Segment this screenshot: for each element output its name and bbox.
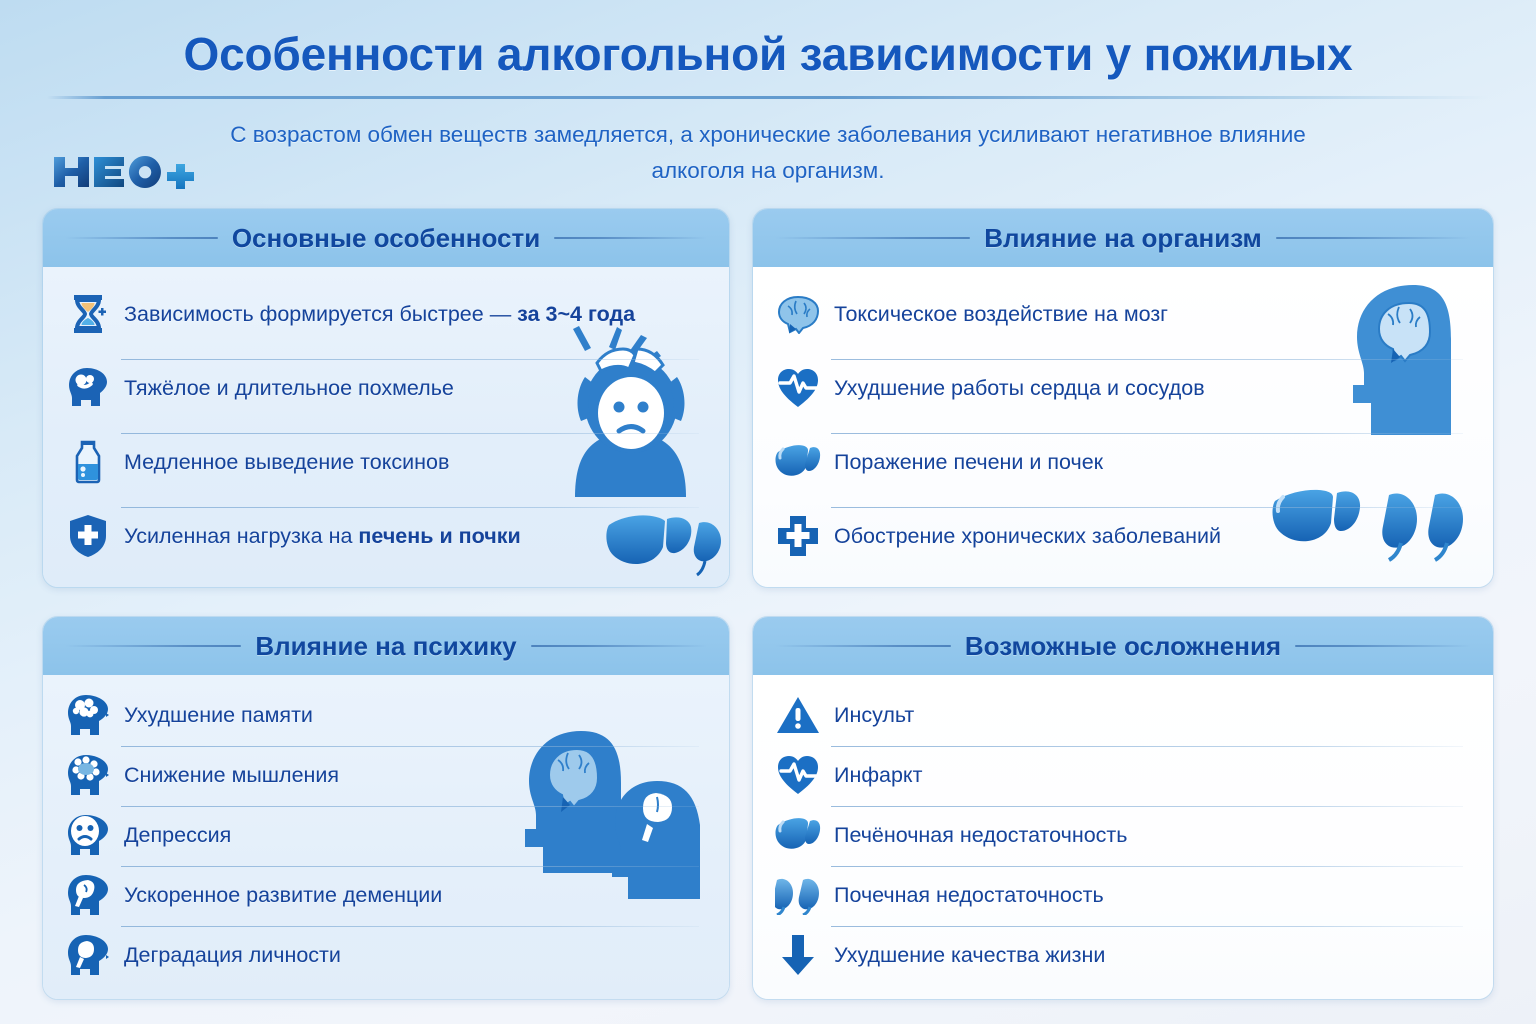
liver-icon (775, 439, 821, 485)
header-rule-right (1276, 237, 1471, 239)
list-item-label: Ускоренное развитие деменции (124, 883, 442, 908)
list-item-label: Ухудшение работы сердца и сосудов (834, 376, 1205, 401)
list-item-text: Деградация личности (124, 943, 341, 967)
list-item-label: Усиленная нагрузка на печень и почки (124, 524, 521, 549)
list-item-text: Ухудшение качества жизни (834, 943, 1105, 967)
card-title: Основные особенности (232, 223, 540, 254)
list-item-label: Ухудшение памяти (124, 703, 313, 728)
list-item[interactable]: Депрессия (65, 807, 707, 863)
card-body: Инсульт Инфаркт (753, 675, 1493, 999)
page-header: Особенности алкогольной зависимости у по… (0, 0, 1536, 200)
list-item[interactable]: Тяжёлое и длительное похмелье (65, 360, 707, 416)
list-item[interactable]: Медленное выведение токсинов (65, 434, 707, 490)
list-item[interactable]: Поражение печени и почек (775, 434, 1471, 490)
list-item-label: Инсульт (834, 703, 914, 728)
list-item-label: Почечная недостаточность (834, 883, 1104, 908)
list-item-text: Зависимость формируется быстрее — (124, 302, 517, 326)
page-subtitle: С возрастом обмен веществ замедляется, а… (218, 117, 1318, 189)
list-item[interactable]: Ухудшение качества жизни (775, 927, 1471, 983)
list-item[interactable]: Инфаркт (775, 747, 1471, 803)
list-item-text: Тяжёлое и длительное похмелье (124, 376, 454, 400)
list-item-label: Печёночная недостаточность (834, 823, 1127, 848)
list-item[interactable]: Деградация личности (65, 927, 707, 983)
card-title: Влияние на организм (984, 223, 1261, 254)
list-item-text: Инсульт (834, 703, 914, 727)
list-item-text: Снижение мышления (124, 763, 339, 787)
list-item[interactable]: Усиленная нагрузка на печень и почки (65, 508, 707, 564)
header-rule-left (775, 237, 970, 239)
head-dementia-icon (65, 872, 111, 918)
list-item[interactable]: Почечная недостаточность (775, 867, 1471, 923)
header-rule-left (775, 645, 951, 647)
card-body: Зависимость формируется быстрее — за 3~4… (43, 267, 729, 587)
list-item-label: Инфаркт (834, 763, 922, 788)
list-item-emphasis: печень и почки (358, 524, 520, 548)
list-item-text: Ухудшение работы сердца и сосудов (834, 376, 1205, 400)
list-item[interactable]: Зависимость формируется быстрее — за 3~4… (65, 286, 707, 342)
list-item-label: Тяжёлое и длительное похмелье (124, 376, 454, 401)
list-item-text: Депрессия (124, 823, 231, 847)
card-main-features: Основные особенности Зависимость формиру… (42, 208, 730, 588)
list-item-text: Почечная недостаточность (834, 883, 1104, 907)
list-item-label: Снижение мышления (124, 763, 339, 788)
header-rule-right (531, 645, 707, 647)
list-item-text: Обострение хронических заболеваний (834, 524, 1221, 548)
list-item-text: Ухудшение памяти (124, 703, 313, 727)
head-degradation-icon (65, 932, 111, 978)
head-sad-face-icon (65, 812, 111, 858)
header-rule-right (554, 237, 707, 239)
list-item-text: Поражение печени и почек (834, 450, 1103, 474)
card-body: Ухудшение памяти Снижение мы (43, 675, 729, 999)
list-item-label: Поражение печени и почек (834, 450, 1103, 475)
list-item-label: Медленное выведение токсинов (124, 450, 449, 475)
card-header: Возможные осложнения (753, 617, 1493, 675)
list-item-text: Печёночная недостаточность (834, 823, 1127, 847)
card-header: Основные особенности (43, 209, 729, 267)
list-item[interactable]: Обострение хронических заболеваний (775, 508, 1471, 564)
hourglass-icon (65, 291, 111, 337)
list-item[interactable]: Ускоренное развитие деменции (65, 867, 707, 923)
page-title: Особенности алкогольной зависимости у по… (0, 27, 1536, 81)
list-item[interactable]: Снижение мышления (65, 747, 707, 803)
neo-plus-logo (50, 152, 200, 192)
warning-triangle-icon (775, 692, 821, 738)
list-item-emphasis: за 3~4 года (517, 302, 635, 326)
heart-pulse-icon (775, 752, 821, 798)
list-item-label: Зависимость формируется быстрее — за 3~4… (124, 302, 635, 327)
list-item-text: Усиленная нагрузка на (124, 524, 358, 548)
list-item[interactable]: Ухудшение памяти (65, 687, 707, 743)
head-memory-icon (65, 692, 111, 738)
header-rule-left (65, 645, 241, 647)
list-item-label: Депрессия (124, 823, 231, 848)
medical-cross-icon (775, 513, 821, 559)
heart-pulse-icon (775, 365, 821, 411)
head-hangover-icon (65, 365, 111, 411)
title-divider (47, 96, 1489, 99)
shield-cross-icon (65, 513, 111, 559)
brain-icon (775, 291, 821, 337)
list-item-text: Инфаркт (834, 763, 922, 787)
list-item[interactable]: Ухудшение работы сердца и сосудов (775, 360, 1471, 416)
list-item-label: Обострение хронических заболеваний (834, 524, 1221, 549)
list-item[interactable]: Токсическое воздействие на мозг (775, 286, 1471, 342)
header-rule-left (65, 237, 218, 239)
down-arrow-icon (775, 932, 821, 978)
card-header: Влияние на организм (753, 209, 1493, 267)
card-title: Влияние на психику (255, 631, 516, 662)
liver-icon (775, 812, 821, 858)
head-thinking-icon (65, 752, 111, 798)
list-item-text: Медленное выведение токсинов (124, 450, 449, 474)
header-rule-right (1295, 645, 1471, 647)
list-item-text: Ускоренное развитие деменции (124, 883, 442, 907)
card-header: Влияние на психику (43, 617, 729, 675)
list-item-label: Ухудшение качества жизни (834, 943, 1105, 968)
kidneys-icon (775, 872, 821, 918)
card-psyche-impact: Влияние на психику Ухудшение памяти (42, 616, 730, 1000)
list-item-label: Деградация личности (124, 943, 341, 968)
card-body-impact: Влияние на организм Токсическое воздейст… (752, 208, 1494, 588)
list-item-text: Токсическое воздействие на мозг (834, 302, 1168, 326)
card-body: Токсическое воздействие на мозг Ухудшени… (753, 267, 1493, 587)
card-title: Возможные осложнения (965, 631, 1281, 662)
flask-icon (65, 439, 111, 485)
list-item[interactable]: Инсульт (775, 687, 1471, 743)
card-complications: Возможные осложнения Инсульт (752, 616, 1494, 1000)
list-item-label: Токсическое воздействие на мозг (834, 302, 1168, 327)
list-item[interactable]: Печёночная недостаточность (775, 807, 1471, 863)
